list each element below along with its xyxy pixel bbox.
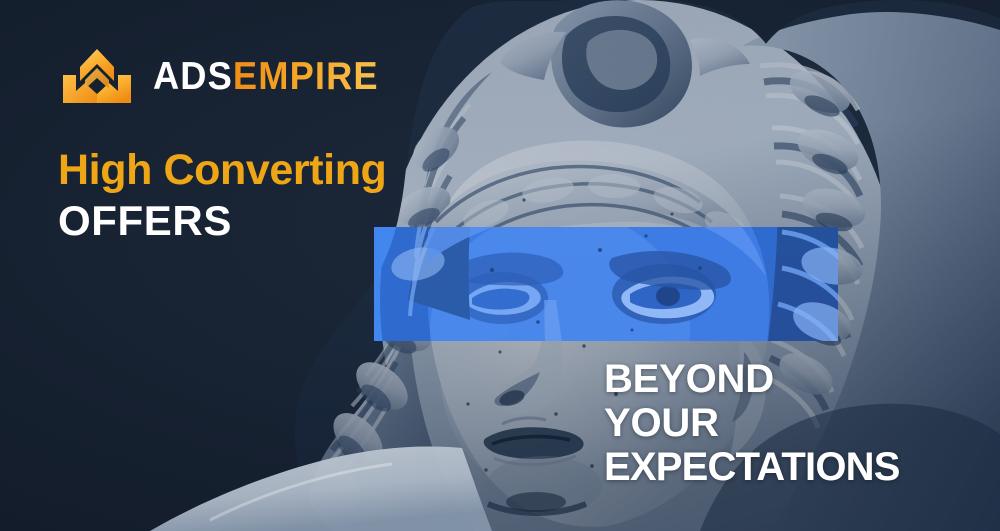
headline-expectations: EXPECTATIONS: [604, 445, 984, 489]
headline-right: BEYOND YOUR EXPECTATIONS: [604, 357, 984, 489]
headline-high-converting: High Converting: [58, 148, 478, 193]
logo-word-empire: EMPIRE: [233, 55, 379, 98]
adsempire-chevron-mark: [57, 47, 137, 105]
ads-empire-banner: ADSEMPIRE High Converting OFFERS BEYOND …: [0, 0, 1000, 531]
adsempire-logo[interactable]: ADSEMPIRE: [57, 47, 396, 105]
headline-beyond: BEYOND: [604, 357, 984, 401]
logo-word-ads: ADS: [153, 55, 233, 98]
logo-wordmark: ADSEMPIRE: [153, 57, 379, 96]
headline-your: YOUR: [604, 401, 984, 445]
